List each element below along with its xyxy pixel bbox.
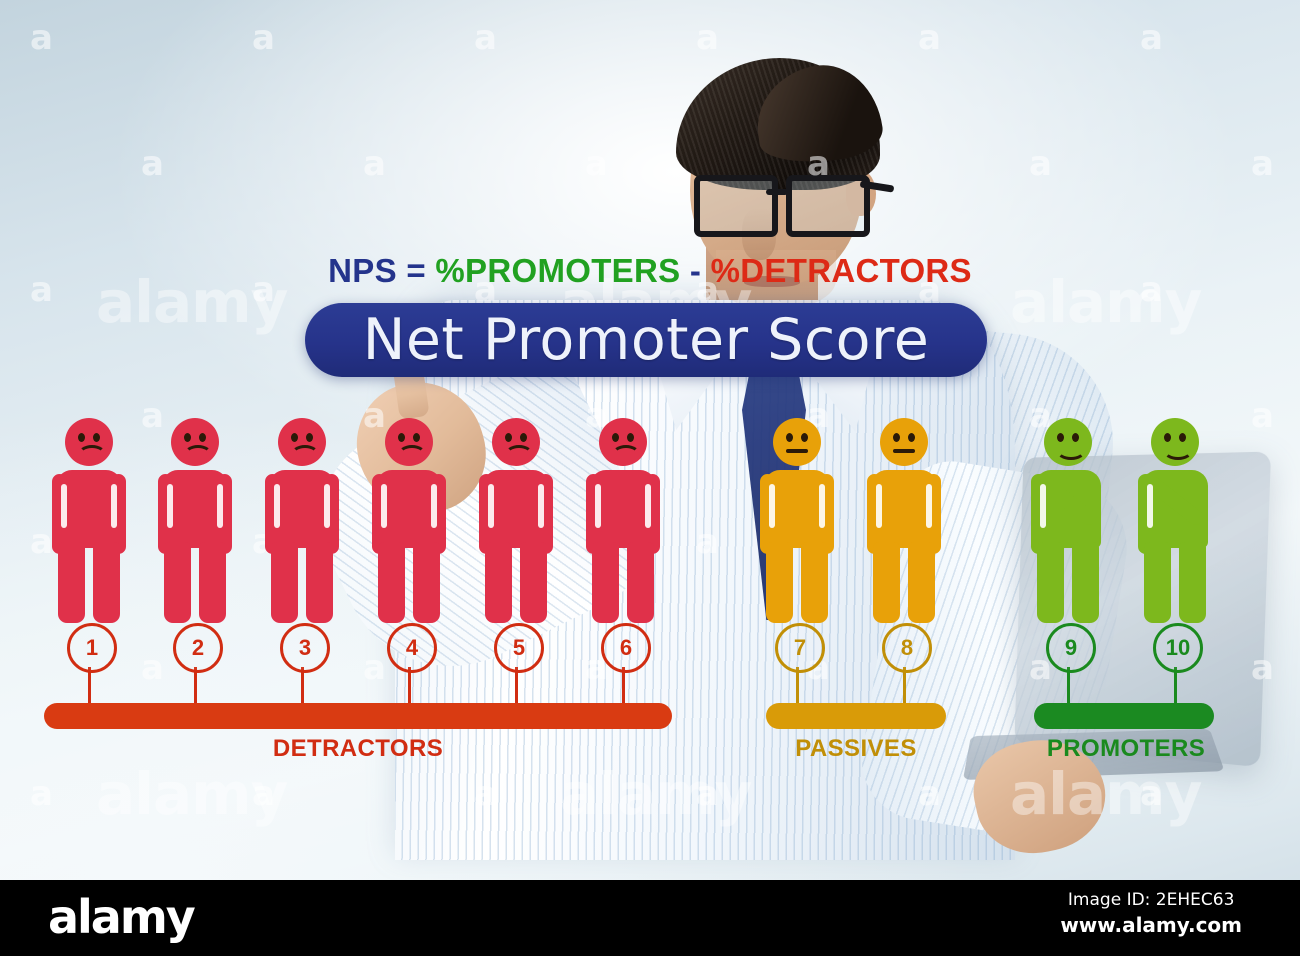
score-number-label: 10	[1166, 635, 1190, 661]
score-number-label: 5	[513, 635, 525, 661]
arm-gap-right	[111, 484, 117, 528]
neutral-mouth-icon	[893, 449, 915, 453]
leg-left	[1144, 542, 1171, 623]
person-icon-8	[867, 418, 941, 623]
circle-stem-9	[1067, 667, 1070, 707]
eye-right	[520, 433, 527, 442]
category-label-passive: PASSIVES	[756, 735, 956, 763]
leg-right	[908, 542, 935, 623]
circle-stem-6	[622, 667, 625, 707]
eye-left	[893, 433, 900, 442]
score-circle-4[interactable]: 4	[387, 623, 437, 673]
eye-right	[199, 433, 206, 442]
face-icon	[492, 418, 540, 466]
leg-right	[199, 542, 226, 623]
formula-minus-sign: -	[680, 252, 710, 289]
category-band-detractor	[44, 703, 672, 729]
arm-gap-right	[645, 484, 651, 528]
eye-right	[627, 433, 634, 442]
eye-left	[398, 433, 405, 442]
score-circle-6[interactable]: 6	[601, 623, 651, 673]
eye-left	[612, 433, 619, 442]
eye-left	[505, 433, 512, 442]
score-circle-10[interactable]: 10	[1153, 623, 1203, 673]
score-number-label: 3	[299, 635, 311, 661]
leg-right	[801, 542, 828, 623]
eye-left	[786, 433, 793, 442]
alamy-logo: alamy	[48, 890, 194, 944]
score-circle-7[interactable]: 7	[775, 623, 825, 673]
arm-gap-right	[431, 484, 437, 528]
arm-gap-right	[217, 484, 223, 528]
leg-left	[164, 542, 191, 623]
leg-left	[873, 542, 900, 623]
image-id-text: Image ID: 2EHEC63	[1060, 890, 1242, 910]
leg-left	[378, 542, 405, 623]
circle-stem-8	[903, 667, 906, 707]
face-icon	[1044, 418, 1092, 466]
eye-left	[291, 433, 298, 442]
arm-gap-left	[274, 484, 280, 528]
face-icon	[385, 418, 433, 466]
score-number-label: 6	[620, 635, 632, 661]
leg-left	[592, 542, 619, 623]
person-icon-1	[52, 418, 126, 623]
eye-right	[801, 433, 808, 442]
circle-stem-5	[515, 667, 518, 707]
eye-left	[184, 433, 191, 442]
arm-gap-left	[381, 484, 387, 528]
face-icon	[1151, 418, 1199, 466]
leg-right	[520, 542, 547, 623]
arm-gap-right	[324, 484, 330, 528]
formula-detractors-term: %DETRACTORS	[711, 252, 972, 289]
arm-gap-left	[1040, 484, 1046, 528]
circle-stem-7	[796, 667, 799, 707]
arm-gap-left	[488, 484, 494, 528]
net-promoter-score-button-label: Net Promoter Score	[363, 307, 930, 373]
face-icon	[65, 418, 113, 466]
leg-left	[58, 542, 85, 623]
eye-right	[413, 433, 420, 442]
leg-right	[93, 542, 120, 623]
category-band-promoter	[1034, 703, 1214, 729]
net-promoter-score-button[interactable]: Net Promoter Score	[305, 303, 987, 377]
leg-right	[1179, 542, 1206, 623]
circle-stem-10	[1174, 667, 1177, 707]
nps-infographic: NPS = %PROMOTERS - %DETRACTORS Net Promo…	[0, 0, 1300, 956]
arm-gap-right	[819, 484, 825, 528]
footer-credit: Image ID: 2EHEC63 www.alamy.com	[1060, 890, 1242, 937]
score-circle-2[interactable]: 2	[173, 623, 223, 673]
sad-mouth-icon	[184, 445, 212, 464]
formula-nps-label: NPS =	[328, 252, 435, 289]
score-circle-3[interactable]: 3	[280, 623, 330, 673]
neutral-mouth-icon	[786, 449, 808, 453]
leg-right	[627, 542, 654, 623]
arm-gap-right	[538, 484, 544, 528]
eye-right	[306, 433, 313, 442]
score-circle-1[interactable]: 1	[67, 623, 117, 673]
arm-gap-left	[167, 484, 173, 528]
person-icon-10	[1138, 418, 1212, 623]
category-label-promoter: PROMOTERS	[1026, 735, 1226, 763]
score-number-label: 2	[192, 635, 204, 661]
score-number-label: 9	[1065, 635, 1077, 661]
screenshot-stage: aaaaaaaaaaaaaaaaaaaaaaaaaaaaaaaaaaaaaaaa…	[0, 0, 1300, 956]
formula-promoters-term: %PROMOTERS	[435, 252, 680, 289]
score-circle-8[interactable]: 8	[882, 623, 932, 673]
score-number-label: 4	[406, 635, 418, 661]
person-icon-6	[586, 418, 660, 623]
person-icon-2	[158, 418, 232, 623]
eye-right	[908, 433, 915, 442]
score-circle-9[interactable]: 9	[1046, 623, 1096, 673]
face-icon	[773, 418, 821, 466]
arm-gap-left	[769, 484, 775, 528]
sad-mouth-icon	[398, 445, 426, 464]
leg-left	[766, 542, 793, 623]
arm-gap-left	[595, 484, 601, 528]
category-band-passive	[766, 703, 946, 729]
alamy-footer-bar: alamy Image ID: 2EHEC63 www.alamy.com	[0, 880, 1300, 956]
score-number-label: 8	[901, 635, 913, 661]
circle-stem-1	[88, 667, 91, 707]
person-icon-5	[479, 418, 553, 623]
arm-gap-left	[61, 484, 67, 528]
arm-gap-right	[926, 484, 932, 528]
circle-stem-2	[194, 667, 197, 707]
category-label-detractor: DETRACTORS	[44, 735, 672, 763]
arm-gap-left	[876, 484, 882, 528]
leg-left	[1037, 542, 1064, 623]
score-circle-5[interactable]: 5	[494, 623, 544, 673]
leg-left	[485, 542, 512, 623]
happy-mouth-icon	[1163, 440, 1193, 460]
score-number-label: 7	[794, 635, 806, 661]
sad-mouth-icon	[291, 445, 319, 464]
person-icon-3	[265, 418, 339, 623]
leg-left	[271, 542, 298, 623]
face-icon	[599, 418, 647, 466]
circle-stem-4	[408, 667, 411, 707]
face-icon	[171, 418, 219, 466]
eye-left	[78, 433, 85, 442]
happy-mouth-icon	[1056, 440, 1086, 460]
sad-mouth-icon	[612, 445, 640, 464]
face-icon	[880, 418, 928, 466]
circle-stem-3	[301, 667, 304, 707]
arm-gap-left	[1147, 484, 1153, 528]
person-icon-9	[1031, 418, 1105, 623]
leg-right	[413, 542, 440, 623]
leg-right	[1072, 542, 1099, 623]
face-icon	[278, 418, 326, 466]
sad-mouth-icon	[78, 445, 106, 464]
sad-mouth-icon	[505, 445, 533, 464]
score-number-label: 1	[86, 635, 98, 661]
alamy-website-text: www.alamy.com	[1060, 913, 1242, 937]
nps-formula: NPS = %PROMOTERS - %DETRACTORS	[0, 252, 1300, 290]
person-icon-7	[760, 418, 834, 623]
eye-right	[93, 433, 100, 442]
person-icon-4	[372, 418, 446, 623]
leg-right	[306, 542, 333, 623]
